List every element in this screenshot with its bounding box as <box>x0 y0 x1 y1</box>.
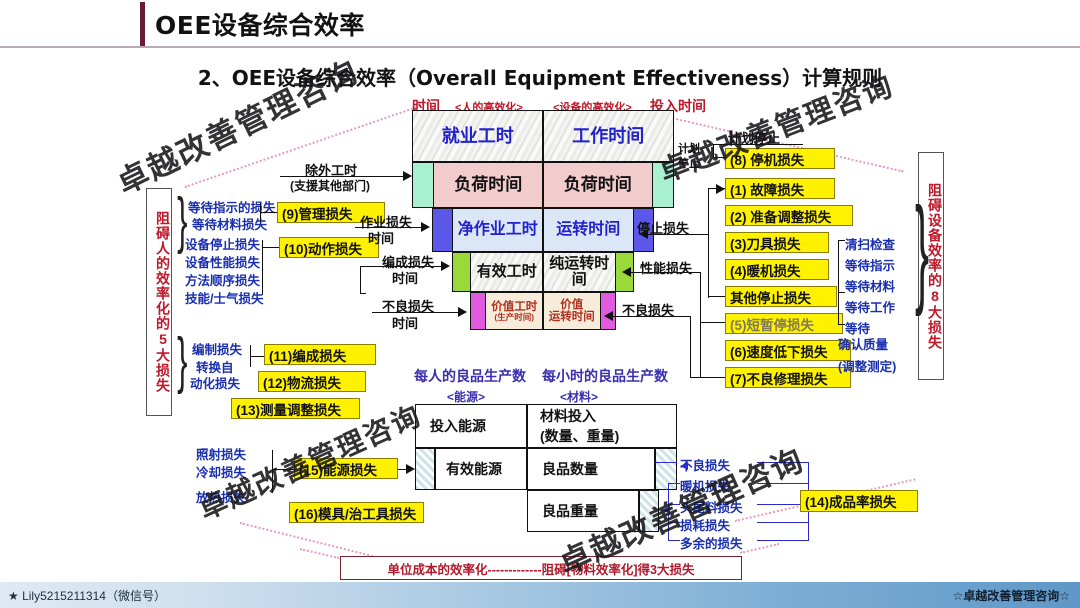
notes-lead-bottom <box>838 324 845 325</box>
stop-loss-line <box>648 234 708 235</box>
label-planning-loss: 编制损失 <box>192 339 242 358</box>
box-composition-loss[interactable]: (11)编成损失 <box>264 344 376 365</box>
exclude-hours-arrow <box>403 171 412 181</box>
cell-value-hours: 价值工时 (生产时间) <box>486 293 544 329</box>
hatch-energy-loss <box>415 448 435 490</box>
row-good-qty: 良品数量 <box>527 448 655 490</box>
stop-loss-arrow <box>639 229 648 239</box>
note-clean-check: 清扫检查 <box>845 234 895 253</box>
cell-value-operating-main: 价值 <box>560 299 583 311</box>
cell-input-energy: 投入能源 <box>416 416 486 436</box>
group10-lead <box>262 247 279 248</box>
comp-loss-line <box>360 266 443 267</box>
bottom-banner: 单位成本的效率化-------------阻碍[物料效率化]得3大损失 <box>340 556 742 580</box>
note-wait-instruction: 等待指示 <box>845 255 895 274</box>
bottom-list-line-5 <box>668 540 680 541</box>
bottom-list-line-1 <box>655 462 677 463</box>
slide-root: OEE设备综合效率 2、OEE设备综合效率（Overall Equipment … <box>0 0 1080 608</box>
work-loss-arrow <box>421 222 430 232</box>
hatch-qty-arrow <box>680 462 688 470</box>
exclude-hours-sublabel: (支援其他部门) <box>290 177 370 194</box>
perf-loss-line <box>630 272 700 273</box>
defect-loss-right-base <box>690 377 702 378</box>
label-material-head: <材料> <box>560 388 598 405</box>
header-divider <box>0 46 1080 48</box>
note-adjust-measure: (调整测定) <box>838 356 896 375</box>
cell-good-qty: 良品数量 <box>528 459 598 479</box>
right-group2-lead1 <box>700 322 725 323</box>
cell-net-work-hours: 净作业工时 <box>453 209 544 251</box>
perf-loss-drop <box>700 272 701 322</box>
box-measure-adjust-loss[interactable]: (13)测量调整损失 <box>231 398 360 419</box>
cell-load-time-left: 负荷时间 <box>434 163 544 207</box>
right-brace: } <box>915 190 929 310</box>
cell-good-weight: 良品重量 <box>528 501 598 521</box>
box-speed-down-loss[interactable]: (6)速度低下损失 <box>725 340 851 361</box>
cell-value-hours-main: 价值工时 <box>491 301 537 313</box>
note-wait-work: 等待工作 <box>845 297 895 316</box>
frame-dot-bottom-mid-left <box>300 548 339 559</box>
perf-loss-arrow <box>622 267 631 277</box>
box-minor-stop-loss[interactable]: (5)短暂停损失 <box>725 313 843 334</box>
time-structure-chart: 就业工时 工作时间 负荷时间 负荷时间 净作业工时 运转时间 有效工时 纯运转时… <box>412 110 674 322</box>
label-skill-morale-loss: 技能/士气损失 <box>185 288 263 307</box>
note-confirm-quality: 确认质量 <box>838 334 888 353</box>
exclude-hours-line <box>280 176 405 177</box>
label-per-hour-output: 每小时的良品生产数 <box>542 366 668 386</box>
right-group1-arrow <box>716 184 725 194</box>
label-wait-material-loss: 等待材料损失 <box>192 214 267 233</box>
cell-material-input-sub: (数量、重量) <box>528 426 619 446</box>
row-input-energy: 投入能源 <box>415 404 527 448</box>
label-changeover-auto-loss-2: 动化损失 <box>190 373 240 392</box>
box-logistics-loss[interactable]: (12)物流损失 <box>258 371 366 392</box>
box-motion-loss[interactable]: (10)动作损失 <box>279 237 379 258</box>
row-effective-energy: 有效能源 <box>435 448 527 490</box>
chart-side-magenta-left <box>470 292 486 330</box>
label-per-person-output: 每人的良品生产数 <box>414 366 526 386</box>
note-wait-material: 等待材料 <box>845 276 895 295</box>
work-loss-line <box>355 227 423 228</box>
defect-loss-arrow <box>458 307 467 317</box>
box-other-stop-loss[interactable]: 其他停止损失 <box>725 286 837 307</box>
comp-loss-drop <box>360 266 361 294</box>
footer-brand: ☆卓越改善管理咨询☆ <box>952 587 1070 604</box>
group9-lead <box>260 212 277 213</box>
defect-loss-right-drop <box>690 316 691 378</box>
row-material-input: 材料投入 (数量、重量) <box>527 404 677 448</box>
label-work-loss-time: 时间 <box>368 228 394 247</box>
box-mold-tool-loss[interactable]: (16)模具/治工具损失 <box>289 502 424 523</box>
label-defect-loss-time: 时间 <box>392 313 418 332</box>
cell-value-operating-sub: 运转时间 <box>549 311 595 323</box>
cell-operating-time: 运转时间 <box>544 209 634 251</box>
box-tool-loss[interactable]: (3)刀具损失 <box>725 232 829 253</box>
box-defect-repair-loss[interactable]: (7)不良修理损失 <box>725 367 851 388</box>
label-perf-loss: 性能损失 <box>640 258 692 277</box>
cell-employment-hours: 就业工时 <box>413 111 544 161</box>
page-title: OEE设备综合效率 <box>155 6 365 42</box>
notes-lead-mid <box>838 292 845 293</box>
chart-side-green2-left <box>452 252 471 292</box>
cell-material-input: 材料投入 <box>528 406 596 426</box>
label-excess-loss: 多余的损失 <box>680 533 743 552</box>
notes-bracket <box>838 240 839 325</box>
comp-loss-arrow <box>441 261 450 271</box>
chart-center-divider <box>542 110 544 330</box>
cell-effective-energy: 有效能源 <box>436 459 502 479</box>
label-comp-loss-time: 时间 <box>392 268 418 287</box>
left-brace-bottom: } <box>177 330 187 392</box>
label-method-order-loss: 方法顺序损失 <box>185 270 260 289</box>
left-vertical-callout: 阻碍人的效率化的5大损失 <box>146 188 172 416</box>
chart-side-blue-left <box>432 208 453 252</box>
box-warmup-loss[interactable]: (4)暖机损失 <box>725 259 829 280</box>
label-irradiation-loss: 照射损失 <box>196 444 246 463</box>
group11-lead <box>250 356 264 357</box>
bottom-list-join-5 <box>757 540 809 541</box>
box-setup-adjust-loss[interactable]: (2) 准备调整损失 <box>725 205 853 226</box>
right-group2-lead2 <box>700 377 725 378</box>
box-yield-loss[interactable]: (14)成品率损失 <box>800 490 918 512</box>
cell-load-time-right: 负荷时间 <box>544 163 653 207</box>
label-energy-head: <能源> <box>447 388 485 405</box>
notes-lead-top <box>838 240 845 241</box>
bottom-banner-text: 单位成本的效率化-------------阻碍[物料效率化]得3大损失 <box>388 559 695 578</box>
energy-loss-to-table-arrow <box>406 464 415 474</box>
bottom-list-join-4 <box>757 522 809 523</box>
header-accent-bar <box>140 2 145 46</box>
chart-side-green-left <box>412 162 434 208</box>
comp-loss-base <box>360 293 366 294</box>
label-equipment-perf-loss: 设备性能损失 <box>185 252 260 271</box>
footer-contact: ★ Lily5215211314（微信号） <box>8 587 166 604</box>
stop-loss-drop <box>708 188 709 234</box>
cell-effective-hours: 有效工时 <box>471 253 544 291</box>
right-group2-bracket <box>700 322 701 378</box>
defect-loss-right-arrow <box>604 311 613 321</box>
box-breakdown-loss[interactable]: (1) 故障损失 <box>725 178 835 199</box>
right-group1-lead2 <box>708 296 725 297</box>
defect-loss-right-line <box>612 316 690 317</box>
cell-value-hours-sub: (生产时间) <box>494 313 534 322</box>
footer-bar: ★ Lily5215211314（微信号） ☆卓越改善管理咨询☆ <box>0 582 1080 608</box>
cell-pure-operating-time: 纯运转时间 <box>544 253 616 291</box>
cell-value-operating: 价值 运转时间 <box>544 293 601 329</box>
defect-loss-line <box>372 312 460 313</box>
frame-dot-bottom-mid-right <box>740 543 779 554</box>
label-equipment-stop-loss: 设备停止损失 <box>185 234 260 253</box>
